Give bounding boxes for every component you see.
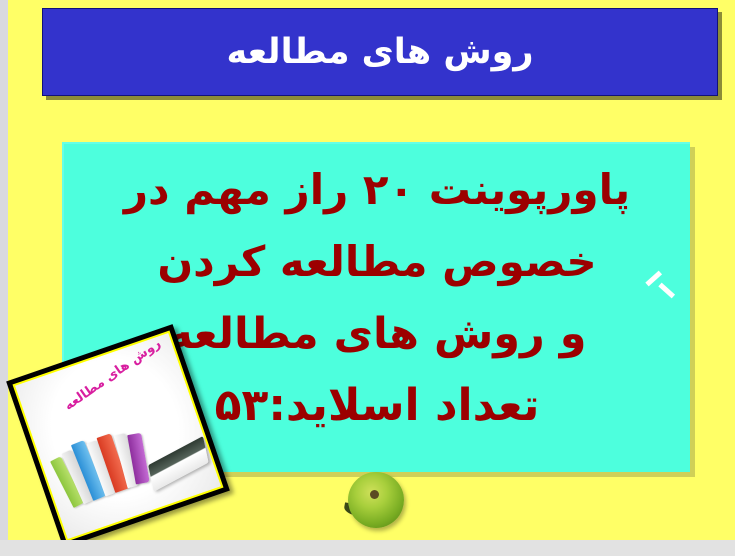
body-line-2: خصوص مطالعه کردن [64, 226, 690, 298]
slide-title-text: روش های مطالعه [226, 33, 533, 72]
bottom-strip [0, 540, 735, 556]
slide-viewport: روش های مطالعه پاورپوینت ۲۰ راز مهم در خ… [0, 0, 735, 556]
left-gutter [0, 0, 8, 540]
apple-icon [344, 468, 406, 530]
apple-dimple [370, 490, 379, 499]
apple-body [348, 472, 404, 528]
body-line-1: پاورپوینت ۲۰ راز مهم در [64, 154, 690, 226]
presentation-slide: روش های مطالعه پاورپوینت ۲۰ راز مهم در خ… [8, 0, 735, 540]
slide-title-box: روش های مطالعه [42, 8, 718, 96]
